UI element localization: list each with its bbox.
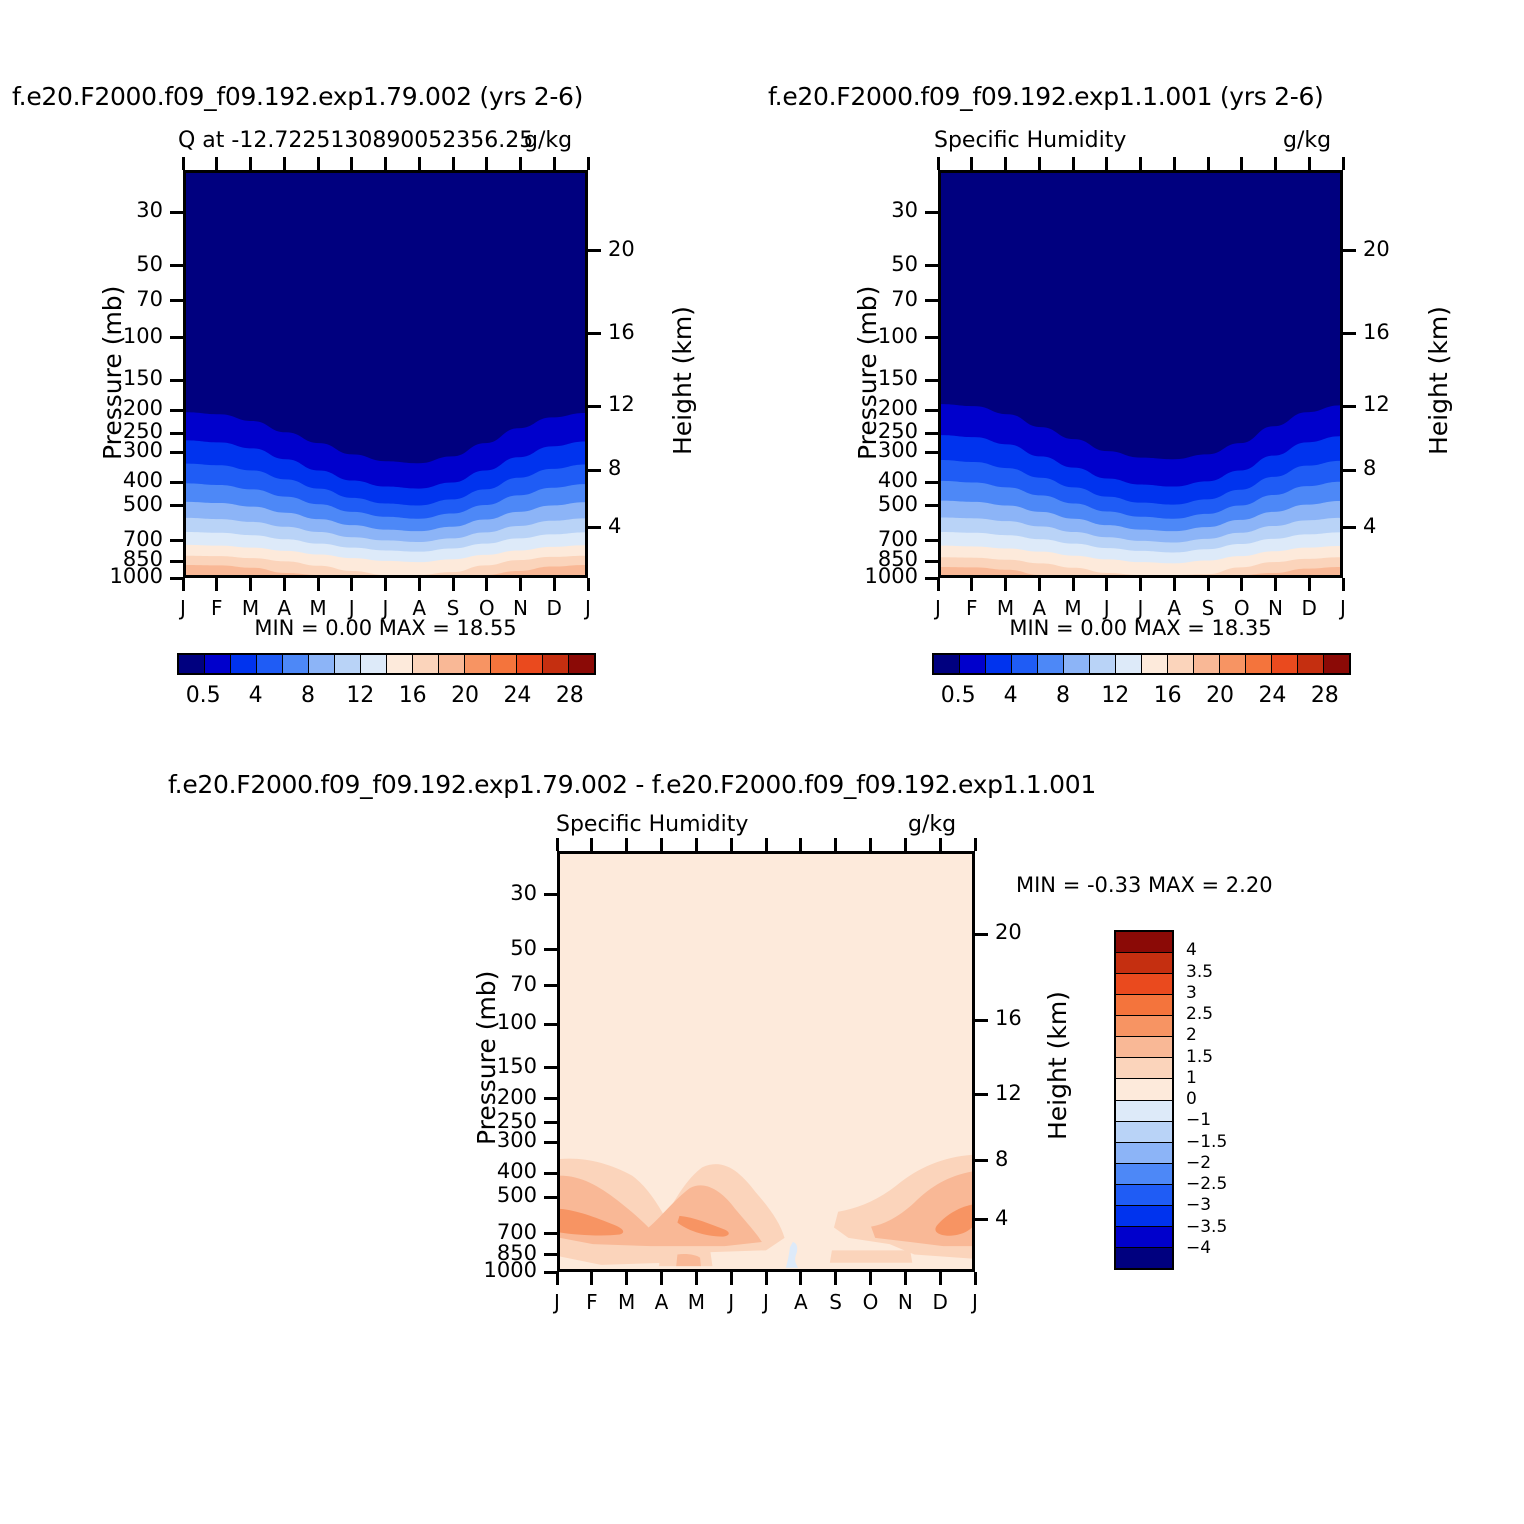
height-tick-label: 8: [995, 1147, 1008, 1171]
axis-tick: [170, 560, 183, 563]
axis-tick: [170, 432, 183, 435]
colorbar-cell[interactable]: [1116, 932, 1172, 953]
colorbar-cell[interactable]: [1090, 655, 1116, 673]
axis-tick: [975, 1218, 988, 1221]
axis-tick: [544, 1141, 557, 1144]
colorbar-tick-label: −3: [1186, 1195, 1256, 1215]
axis-tick: [970, 157, 973, 170]
height-tick-label: 8: [1363, 456, 1376, 480]
axis-tick: [974, 838, 977, 851]
pressure-tick-label: 100: [93, 324, 163, 348]
colorbar-cell[interactable]: [491, 655, 517, 673]
axis-tick: [925, 481, 938, 484]
colorbar-cell[interactable]: [205, 655, 231, 673]
colorbar-tick-label: −1: [1186, 1110, 1256, 1130]
colorbar-cell[interactable]: [1142, 655, 1168, 673]
colorbar-cell[interactable]: [1116, 1122, 1172, 1143]
pressure-tick-label: 50: [848, 252, 918, 276]
axis-tick: [170, 379, 183, 382]
height-tick-label: 8: [608, 456, 621, 480]
axis-tick: [553, 157, 556, 170]
axis-tick: [1343, 526, 1356, 529]
axis-tick: [1072, 157, 1075, 170]
colorbar-tick-label: 12: [330, 683, 390, 708]
month-tick-label: J: [963, 1290, 987, 1314]
month-tick-label: D: [928, 1290, 952, 1314]
colorbar-cell[interactable]: [309, 655, 335, 673]
axis-tick: [1038, 157, 1041, 170]
month-tick-label: F: [580, 1290, 604, 1314]
axis-tick: [1004, 157, 1007, 170]
colorbar-tick-label: 1.5: [1186, 1047, 1256, 1067]
colorbar-cell[interactable]: [934, 655, 960, 673]
month-tick-label: N: [893, 1290, 917, 1314]
axis-tick: [925, 451, 938, 454]
month-tick-label: A: [650, 1290, 674, 1314]
contour-field: [941, 173, 1340, 575]
axis-tick: [452, 157, 455, 170]
colorbar-cell[interactable]: [1038, 655, 1064, 673]
colorbar-tick-label: −4: [1186, 1238, 1256, 1258]
pressure-tick-label: 50: [93, 252, 163, 276]
axis-tick: [1342, 578, 1345, 591]
pressure-tick-label: 300: [467, 1128, 537, 1152]
colorbar-cell[interactable]: [1116, 1058, 1172, 1079]
pressure-tick-label: 100: [467, 1010, 537, 1034]
axis-tick: [1274, 578, 1277, 591]
height-tick-label: 4: [1363, 514, 1376, 538]
pressure-tick-label: 500: [467, 1183, 537, 1207]
colorbar-cell[interactable]: [1116, 974, 1172, 995]
axis-tick: [1139, 157, 1142, 170]
axis-tick: [170, 211, 183, 214]
top-right-plot-area[interactable]: [938, 170, 1343, 578]
axis-tick: [937, 157, 940, 170]
colorbar-cell[interactable]: [335, 655, 361, 673]
axis-tick: [1105, 157, 1108, 170]
colorbar-tick-label: 4: [1186, 940, 1256, 960]
colorbar-cell[interactable]: [569, 655, 594, 673]
colorbar-cell[interactable]: [1246, 655, 1272, 673]
pressure-tick-label: 300: [848, 438, 918, 462]
pressure-tick-label: 1000: [848, 564, 918, 588]
axis-tick: [925, 409, 938, 412]
axis-tick: [544, 948, 557, 951]
colorbar-cell[interactable]: [1012, 655, 1038, 673]
colorbar-cell[interactable]: [231, 655, 257, 673]
axis-tick: [170, 264, 183, 267]
axis-tick: [904, 838, 907, 851]
pressure-tick-label: 400: [467, 1159, 537, 1183]
colorbar-tick-label: 8: [1033, 683, 1093, 708]
axis-tick: [590, 1272, 593, 1285]
pressure-tick-label: 30: [467, 881, 537, 905]
month-tick-label: J: [545, 1290, 569, 1314]
top-right-yrlabel: Height (km): [1424, 306, 1453, 455]
colorbar-tick-label: 4: [981, 683, 1041, 708]
pressure-tick-label: 30: [848, 198, 918, 222]
axis-tick: [588, 249, 601, 252]
axis-tick: [1343, 332, 1356, 335]
axis-tick: [974, 1272, 977, 1285]
colorbar-tick-label: 24: [1242, 683, 1302, 708]
pressure-tick-label: 400: [93, 468, 163, 492]
axis-tick: [249, 578, 252, 591]
axis-tick: [869, 1272, 872, 1285]
axis-tick: [834, 838, 837, 851]
axis-tick: [317, 578, 320, 591]
axis-tick: [660, 1272, 663, 1285]
colorbar-cell[interactable]: [1116, 655, 1142, 673]
axis-tick: [170, 409, 183, 412]
colorbar-tick-label: 20: [435, 683, 495, 708]
axis-tick: [519, 578, 522, 591]
pressure-tick-label: 1000: [93, 564, 163, 588]
pressure-tick-label: 70: [467, 972, 537, 996]
colorbar-cell[interactable]: [465, 655, 491, 673]
axis-tick: [556, 1272, 559, 1285]
colorbar-cell[interactable]: [387, 655, 413, 673]
colorbar-cell[interactable]: [1116, 1016, 1172, 1037]
axis-tick: [925, 299, 938, 302]
axis-tick: [588, 469, 601, 472]
pressure-tick-label: 70: [848, 287, 918, 311]
height-tick-label: 16: [995, 1006, 1022, 1030]
axis-tick: [215, 157, 218, 170]
height-tick-label: 20: [1363, 237, 1390, 261]
axis-tick: [544, 1097, 557, 1100]
colorbar-cell[interactable]: [1116, 1079, 1172, 1100]
axis-tick: [556, 838, 559, 851]
height-tick-label: 16: [1363, 320, 1390, 344]
axis-tick: [939, 838, 942, 851]
colorbar-tick-label: 12: [1085, 683, 1145, 708]
height-tick-label: 20: [995, 920, 1022, 944]
colorbar-tick-label: 2.5: [1186, 1004, 1256, 1024]
colorbar-cell[interactable]: [986, 655, 1012, 673]
pressure-tick-label: 500: [93, 492, 163, 516]
axis-tick: [1173, 578, 1176, 591]
axis-tick: [975, 933, 988, 936]
axis-tick: [925, 539, 938, 542]
axis-tick: [418, 157, 421, 170]
height-tick-label: 4: [608, 514, 621, 538]
colorbar-cell[interactable]: [1116, 1037, 1172, 1058]
axis-tick: [485, 157, 488, 170]
pressure-tick-label: 200: [467, 1085, 537, 1109]
axis-tick: [544, 1023, 557, 1026]
colorbar-cell[interactable]: [413, 655, 439, 673]
month-tick-label: S: [824, 1290, 848, 1314]
month-tick-label: O: [859, 1290, 883, 1314]
colorbar-cell[interactable]: [517, 655, 543, 673]
axis-tick: [975, 1159, 988, 1162]
month-tick-label: M: [615, 1290, 639, 1314]
axis-tick: [350, 578, 353, 591]
axis-tick: [1038, 578, 1041, 591]
pressure-tick-label: 30: [93, 198, 163, 222]
height-tick-label: 12: [1363, 392, 1390, 416]
difference-minmax: MIN = -0.33 MAX = 2.20: [1016, 873, 1273, 897]
pressure-tick-label: 1000: [467, 1258, 537, 1282]
axis-tick: [170, 504, 183, 507]
month-tick-label: J: [754, 1290, 778, 1314]
pressure-tick-label: 400: [848, 468, 918, 492]
top-left-plot-area[interactable]: [183, 170, 588, 578]
height-tick-label: 12: [995, 1081, 1022, 1105]
colorbar-tick-label: −2.5: [1186, 1174, 1256, 1194]
axis-tick: [1207, 578, 1210, 591]
axis-tick: [170, 336, 183, 339]
axis-tick: [587, 157, 590, 170]
colorbar-cell[interactable]: [1116, 1101, 1172, 1122]
axis-tick: [765, 1272, 768, 1285]
top-left-subtitle: Q at -12.7225130890052356.25: [178, 128, 533, 153]
top-left-yrlabel: Height (km): [668, 306, 697, 455]
colorbar-cell[interactable]: [1298, 655, 1324, 673]
axis-tick: [904, 1272, 907, 1285]
axis-tick: [418, 578, 421, 591]
axis-tick: [182, 578, 185, 591]
top-right-case-title: f.e20.F2000.f09_f09.192.exp1.1.001 (yrs …: [768, 82, 1324, 111]
axis-tick: [587, 578, 590, 591]
axis-tick: [544, 1121, 557, 1124]
difference-yrlabel: Height (km): [1043, 991, 1072, 1140]
axis-tick: [695, 838, 698, 851]
axis-tick: [544, 1196, 557, 1199]
top-right-variable-label: Specific Humidity: [934, 128, 1126, 153]
colorbar-tick-label: 28: [540, 683, 600, 708]
colorbar-cell[interactable]: [1272, 655, 1298, 673]
axis-tick: [1274, 157, 1277, 170]
colorbar-cell[interactable]: [1064, 655, 1090, 673]
axis-tick: [1308, 157, 1311, 170]
axis-tick: [730, 838, 733, 851]
month-tick-label: M: [684, 1290, 708, 1314]
colorbar-tick-label: 20: [1190, 683, 1250, 708]
axis-tick: [660, 838, 663, 851]
colorbar-tick-label: 28: [1295, 683, 1355, 708]
height-tick-label: 20: [608, 237, 635, 261]
axis-tick: [588, 526, 601, 529]
colorbar-cell[interactable]: [1116, 1206, 1172, 1227]
colorbar-tick-label: 3: [1186, 983, 1256, 1003]
top-left-colorbar[interactable]: [177, 653, 596, 675]
axis-tick: [925, 432, 938, 435]
axis-tick: [215, 578, 218, 591]
colorbar-tick-label: 0: [1186, 1089, 1256, 1109]
axis-tick: [452, 578, 455, 591]
pressure-tick-label: 150: [467, 1054, 537, 1078]
axis-tick: [925, 264, 938, 267]
axis-tick: [925, 336, 938, 339]
axis-tick: [625, 1272, 628, 1285]
colorbar-cell[interactable]: [543, 655, 569, 673]
axis-tick: [384, 157, 387, 170]
height-tick-label: 12: [608, 392, 635, 416]
difference-variable-label: Specific Humidity: [556, 812, 748, 837]
axis-tick: [1105, 578, 1108, 591]
colorbar-tick-label: 16: [383, 683, 443, 708]
top-left-minmax: MIN = 0.00 MAX = 18.55: [183, 616, 588, 640]
colorbar-cell[interactable]: [1116, 1185, 1172, 1206]
axis-tick: [283, 578, 286, 591]
axis-tick: [170, 451, 183, 454]
axis-tick: [925, 379, 938, 382]
axis-tick: [730, 1272, 733, 1285]
pressure-tick-label: 500: [848, 492, 918, 516]
axis-tick: [937, 578, 940, 591]
colorbar-cell[interactable]: [1116, 1248, 1172, 1268]
axis-tick: [970, 578, 973, 591]
axis-tick: [170, 481, 183, 484]
pressure-tick-label: 150: [848, 366, 918, 390]
top-left-case-title: f.e20.F2000.f09_f09.192.exp1.79.002 (yrs…: [12, 82, 583, 111]
colorbar-tick-label: 1: [1186, 1068, 1256, 1088]
contour-field: [186, 173, 585, 575]
pressure-tick-label: 300: [93, 438, 163, 462]
axis-tick: [170, 299, 183, 302]
colorbar-cell[interactable]: [1116, 1143, 1172, 1164]
axis-tick: [1173, 157, 1176, 170]
axis-tick: [1342, 157, 1345, 170]
axis-tick: [1240, 157, 1243, 170]
difference-case-title: f.e20.F2000.f09_f09.192.exp1.79.002 - f.…: [168, 770, 1096, 799]
top-left-units: g/kg: [524, 128, 572, 153]
colorbar-tick-label: 2: [1186, 1025, 1256, 1045]
axis-tick: [1240, 578, 1243, 591]
colorbar-tick-label: 8: [278, 683, 338, 708]
month-tick-label: A: [789, 1290, 813, 1314]
axis-tick: [925, 211, 938, 214]
colorbar-tick-label: 0.5: [928, 683, 988, 708]
axis-tick: [182, 157, 185, 170]
pressure-tick-label: 150: [93, 366, 163, 390]
colorbar-cell[interactable]: [1324, 655, 1349, 673]
difference-colorbar[interactable]: [1114, 930, 1174, 1270]
axis-tick: [1343, 405, 1356, 408]
axis-tick: [925, 560, 938, 563]
axis-tick: [765, 838, 768, 851]
pressure-tick-label: 200: [848, 396, 918, 420]
axis-tick: [350, 157, 353, 170]
axis-tick: [590, 838, 593, 851]
colorbar-tick-label: 16: [1138, 683, 1198, 708]
axis-tick: [695, 1272, 698, 1285]
colorbar-cell[interactable]: [1220, 655, 1246, 673]
axis-tick: [975, 1093, 988, 1096]
axis-tick: [939, 1272, 942, 1285]
pressure-tick-label: 50: [467, 936, 537, 960]
height-tick-label: 4: [995, 1206, 1008, 1230]
colorbar-cell[interactable]: [1194, 655, 1220, 673]
axis-tick: [544, 1253, 557, 1256]
contour-band: [830, 1250, 912, 1262]
axis-tick: [975, 1019, 988, 1022]
colorbar-cell[interactable]: [1116, 1164, 1172, 1185]
colorbar-cell[interactable]: [179, 655, 205, 673]
axis-tick: [170, 539, 183, 542]
axis-tick: [384, 578, 387, 591]
difference-plot-area[interactable]: [557, 851, 975, 1272]
axis-tick: [544, 1232, 557, 1235]
axis-tick: [544, 893, 557, 896]
axis-tick: [1343, 469, 1356, 472]
pressure-tick-label: 200: [93, 396, 163, 420]
axis-tick: [1139, 578, 1142, 591]
colorbar-tick-label: 4: [226, 683, 286, 708]
axis-tick: [519, 157, 522, 170]
colorbar-cell[interactable]: [1116, 953, 1172, 974]
axis-tick: [283, 157, 286, 170]
colorbar-tick-label: 24: [487, 683, 547, 708]
colorbar-cell[interactable]: [960, 655, 986, 673]
axis-tick: [834, 1272, 837, 1285]
top-right-units: g/kg: [1283, 128, 1331, 153]
axis-tick: [869, 838, 872, 851]
difference-units: g/kg: [908, 812, 956, 837]
colorbar-cell[interactable]: [1168, 655, 1194, 673]
axis-tick: [553, 578, 556, 591]
colorbar-tick-label: −3.5: [1186, 1217, 1256, 1237]
colorbar-tick-label: −1.5: [1186, 1132, 1256, 1152]
axis-tick: [588, 332, 601, 335]
colorbar-cell[interactable]: [439, 655, 465, 673]
axis-tick: [544, 984, 557, 987]
colorbar-cell[interactable]: [283, 655, 309, 673]
colorbar-cell[interactable]: [257, 655, 283, 673]
difference-contour-field: [560, 854, 972, 1269]
pressure-tick-label: 70: [93, 287, 163, 311]
axis-tick: [544, 1066, 557, 1069]
axis-tick: [485, 578, 488, 591]
pressure-tick-label: 100: [848, 324, 918, 348]
axis-tick: [249, 157, 252, 170]
colorbar-cell[interactable]: [361, 655, 387, 673]
colorbar-tick-label: 3.5: [1186, 962, 1256, 982]
colorbar-cell[interactable]: [1116, 995, 1172, 1016]
colorbar-tick-label: −2: [1186, 1153, 1256, 1173]
axis-tick: [1004, 578, 1007, 591]
axis-tick: [588, 405, 601, 408]
height-tick-label: 16: [608, 320, 635, 344]
axis-tick: [317, 157, 320, 170]
month-tick-label: J: [719, 1290, 743, 1314]
top-right-minmax: MIN = 0.00 MAX = 18.35: [938, 616, 1343, 640]
colorbar-tick-label: 0.5: [173, 683, 233, 708]
axis-tick: [1207, 157, 1210, 170]
axis-tick: [799, 1272, 802, 1285]
axis-tick: [544, 1172, 557, 1175]
axis-tick: [925, 504, 938, 507]
axis-tick: [799, 838, 802, 851]
axis-tick: [1072, 578, 1075, 591]
axis-tick: [1308, 578, 1311, 591]
axis-tick: [625, 838, 628, 851]
colorbar-cell[interactable]: [1116, 1227, 1172, 1248]
axis-tick: [1343, 249, 1356, 252]
top-right-colorbar[interactable]: [932, 653, 1351, 675]
